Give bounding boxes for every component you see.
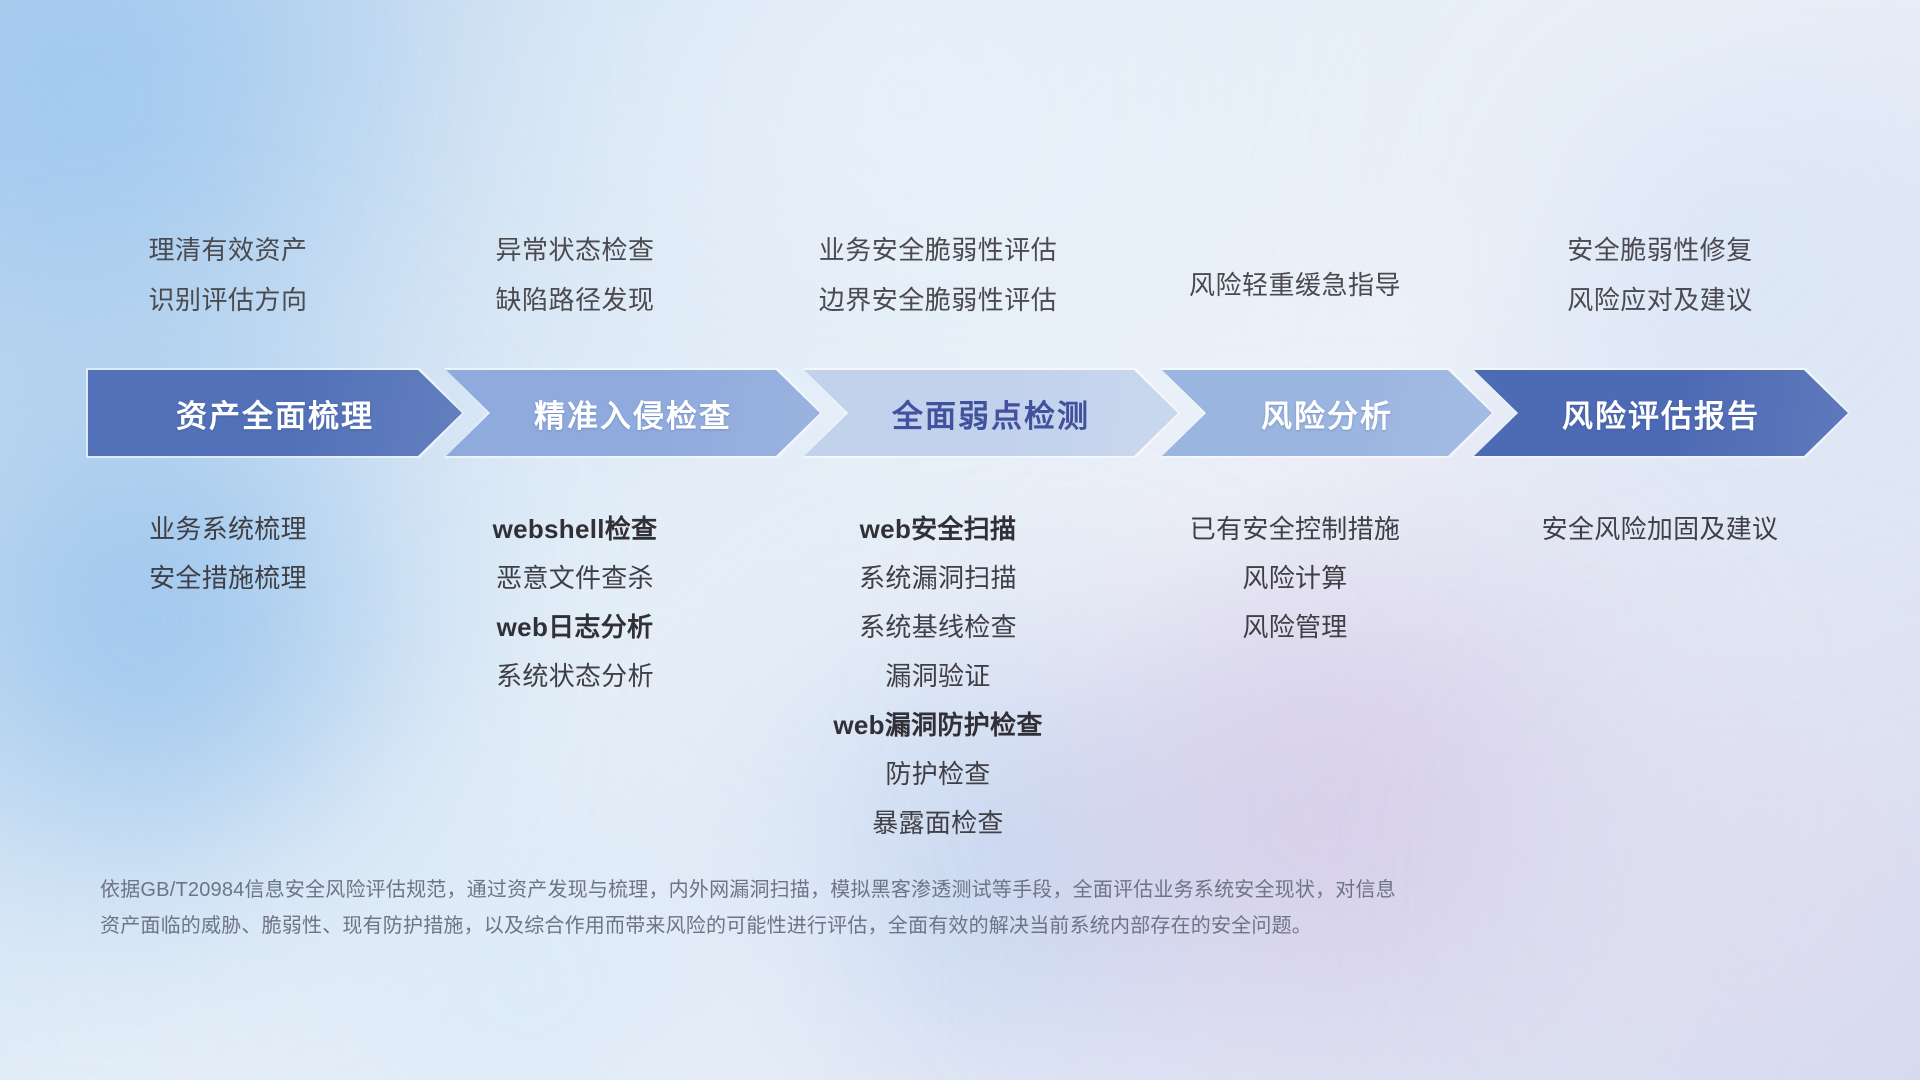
process-stage-intrusion-check[interactable]: 精准入侵检查 (446, 370, 820, 456)
diagram-content: 理清有效资产识别评估方向异常状态检查缺陷路径发现业务安全脆弱性评估边界安全脆弱性… (0, 0, 1920, 1080)
stage-title: 全面弱点检测 (892, 391, 1090, 436)
bottom-caption-item: 风险计算 (1035, 554, 1555, 603)
top-caption-item: 安全脆弱性修复 (1420, 225, 1900, 275)
stage-title: 风险分析 (1261, 391, 1393, 436)
bottom-caption-item: 漏洞验证 (678, 652, 1198, 701)
footer-line-1: 依据GB/T20984信息安全风险评估规范，通过资产发现与梳理，内外网漏洞扫描，… (100, 872, 1660, 908)
footer-description: 依据GB/T20984信息安全风险评估规范，通过资产发现与梳理，内外网漏洞扫描，… (100, 872, 1660, 944)
top-caption-item: 风险应对及建议 (1420, 275, 1900, 325)
top-captions-row: 理清有效资产识别评估方向异常状态检查缺陷路径发现业务安全脆弱性评估边界安全脆弱性… (0, 225, 1920, 345)
top-caption-group-risk-report: 安全脆弱性修复风险应对及建议 (1420, 225, 1900, 345)
footer-line-2: 资产面临的威胁、脆弱性、现有防护措施，以及综合作用而带来风险的可能性进行评估，全… (100, 908, 1660, 944)
stage-title: 精准入侵检查 (534, 391, 732, 436)
bottom-caption-item: 暴露面检查 (678, 799, 1198, 848)
process-stage-risk-report[interactable]: 风险评估报告 (1474, 370, 1848, 456)
bottom-caption-item: 风险管理 (1035, 603, 1555, 652)
process-chevron-band: 资产全面梳理精准入侵检查全面弱点检测风险分析风险评估报告 (88, 370, 1848, 456)
bottom-caption-group-risk-report: 安全风险加固及建议 (1400, 505, 1920, 554)
bottom-caption-item: 安全风险加固及建议 (1400, 505, 1920, 554)
slide-canvas: 理清有效资产识别评估方向异常状态检查缺陷路径发现业务安全脆弱性评估边界安全脆弱性… (0, 0, 1920, 1080)
bottom-caption-item: web漏洞防护检查 (678, 701, 1198, 750)
process-stage-asset-inventory[interactable]: 资产全面梳理 (88, 370, 462, 456)
stage-title: 资产全面梳理 (176, 391, 374, 436)
bottom-caption-item: 防护检查 (678, 750, 1198, 799)
process-stage-weakness-detection[interactable]: 全面弱点检测 (804, 370, 1178, 456)
process-stage-risk-analysis[interactable]: 风险分析 (1162, 370, 1492, 456)
stage-title: 风险评估报告 (1562, 391, 1760, 436)
